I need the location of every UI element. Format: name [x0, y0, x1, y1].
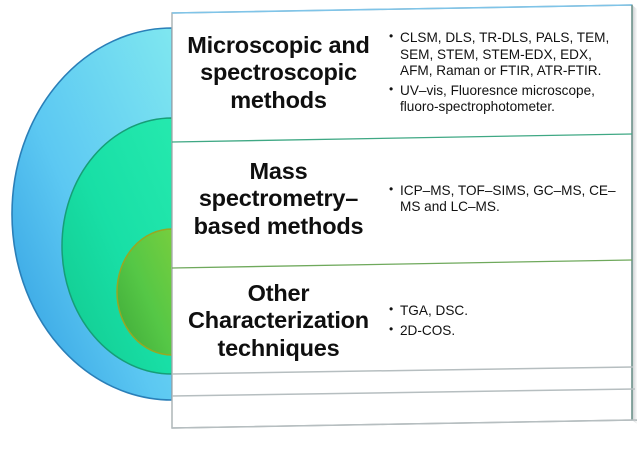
bullet-item: 2D-COS.: [389, 323, 625, 339]
layer-row-mass-spectrometry[interactable]: Mass spectrometry–based methods ICP–MS, …: [176, 140, 631, 258]
bullet-item: UV–vis, Fluoresnce microscope, fluoro-sp…: [389, 83, 625, 116]
row-title-mass-spectrometry: Mass spectrometry–based methods: [176, 158, 381, 240]
row-bullets-other-techniques: TGA, DSC. 2D-COS.: [389, 303, 625, 340]
bullet-item: ICP–MS, TOF–SIMS, GC–MS, CE–MS and LC–MS…: [389, 183, 625, 216]
bullet-item: TGA, DSC.: [389, 303, 625, 319]
row-title-microscopic: Microscopic and spectroscopic methods: [176, 32, 381, 114]
bullet-item: CLSM, DLS, TR-DLS, PALS, TEM, SEM, STEM,…: [389, 30, 625, 79]
layer-row-other-techniques[interactable]: Other Characterization techniques TGA, D…: [176, 266, 631, 376]
diagram-text-layer: Microscopic and spectroscopic methods CL…: [0, 0, 641, 455]
row-title-other-techniques: Other Characterization techniques: [176, 280, 381, 362]
row-bullets-microscopic: CLSM, DLS, TR-DLS, PALS, TEM, SEM, STEM,…: [389, 30, 625, 116]
row-bullets-mass-spectrometry: ICP–MS, TOF–SIMS, GC–MS, CE–MS and LC–MS…: [389, 183, 625, 216]
layer-row-microscopic[interactable]: Microscopic and spectroscopic methods CL…: [176, 14, 631, 132]
diagram-root: Microscopic and spectroscopic methods CL…: [0, 0, 641, 455]
